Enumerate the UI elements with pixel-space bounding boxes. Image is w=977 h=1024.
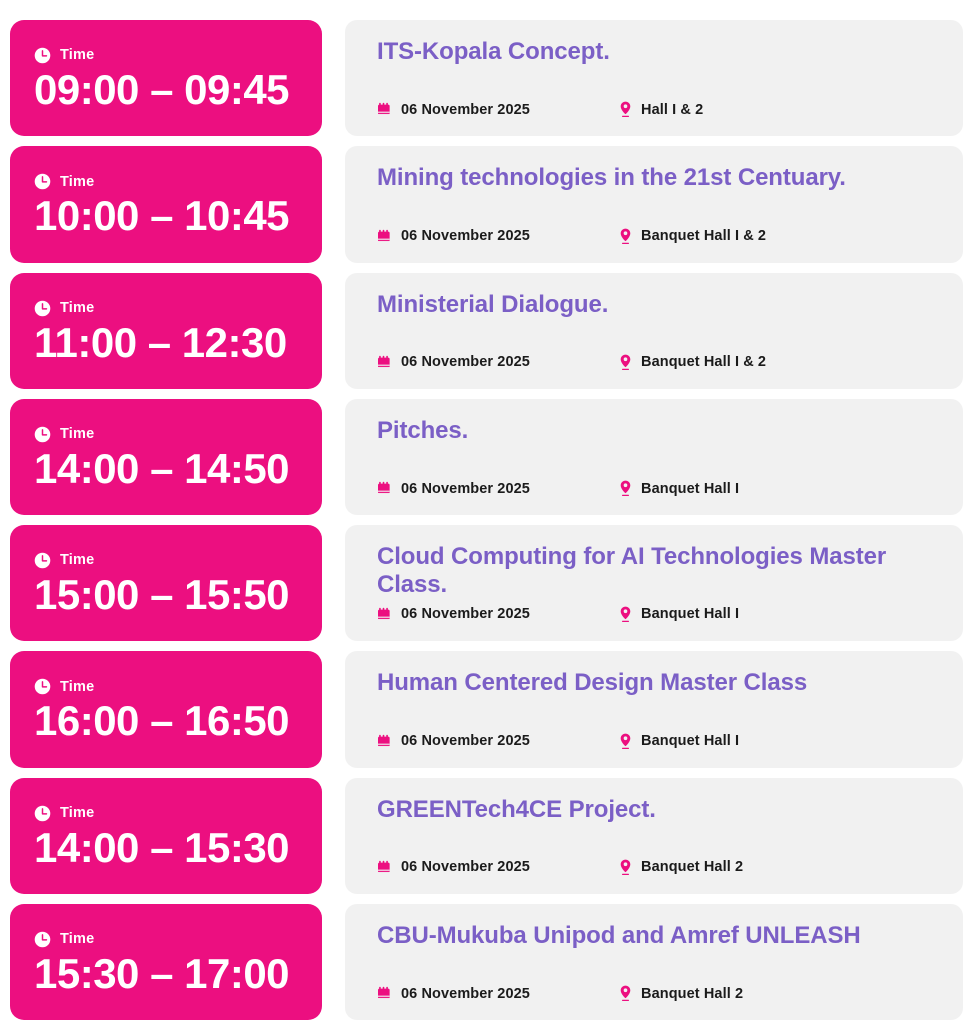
time-label: Time [60,427,94,442]
location-pin-icon [619,228,632,245]
session-card[interactable]: Pitches.06 November 2025Banquet Hall I [345,399,963,515]
session-meta: 06 November 2025Hall I & 2 [377,101,939,122]
session-meta: 06 November 2025Banquet Hall I [377,606,939,627]
session-venue: Banquet Hall 2 [619,859,743,876]
time-card[interactable]: Time15:00 – 15:50 [10,525,322,641]
calendar-icon [377,355,392,370]
session-date-text: 06 November 2025 [401,733,530,749]
calendar-icon [377,607,392,622]
session-date: 06 November 2025 [377,859,609,875]
time-card-header: Time [34,300,300,317]
schedule-row: Time14:00 – 15:30GREENTech4CE Project.06… [10,778,963,894]
time-label: Time [60,175,94,190]
clock-icon [34,426,51,443]
location-pin-icon [619,354,632,371]
schedule-row: Time10:00 – 10:45Mining technologies in … [10,146,963,262]
time-card[interactable]: Time11:00 – 12:30 [10,273,322,389]
time-card[interactable]: Time14:00 – 15:30 [10,778,322,894]
time-card[interactable]: Time16:00 – 16:50 [10,651,322,767]
time-card-header: Time [34,931,300,948]
session-venue: Banquet Hall 2 [619,985,743,1002]
clock-icon [34,552,51,569]
session-date: 06 November 2025 [377,733,609,749]
time-range: 16:00 – 16:50 [34,697,300,744]
time-range: 15:30 – 17:00 [34,950,300,997]
session-meta: 06 November 2025Banquet Hall 2 [377,985,939,1006]
time-card-header: Time [34,552,300,569]
clock-icon [34,173,51,190]
schedule-row: Time09:00 – 09:45ITS-Kopala Concept.06 N… [10,20,963,136]
location-pin-icon [619,985,632,1002]
session-venue-text: Banquet Hall I [641,606,739,622]
session-venue-text: Banquet Hall I & 2 [641,228,766,244]
time-range: 11:00 – 12:30 [34,319,300,366]
time-card[interactable]: Time14:00 – 14:50 [10,399,322,515]
time-card-header: Time [34,47,300,64]
time-range: 09:00 – 09:45 [34,66,300,113]
time-range: 15:00 – 15:50 [34,571,300,618]
session-card[interactable]: Ministerial Dialogue.06 November 2025Ban… [345,273,963,389]
session-meta: 06 November 2025Banquet Hall I [377,733,939,754]
clock-icon [34,678,51,695]
session-venue-text: Banquet Hall I [641,481,739,497]
location-pin-icon [619,606,632,623]
location-pin-icon [619,480,632,497]
session-card[interactable]: ITS-Kopala Concept.06 November 2025Hall … [345,20,963,136]
session-title: CBU-Mukuba Unipod and Amref UNLEASH [377,922,939,950]
calendar-icon [377,481,392,496]
location-pin-icon [619,733,632,750]
schedule-row: Time16:00 – 16:50Human Centered Design M… [10,651,963,767]
time-card[interactable]: Time09:00 – 09:45 [10,20,322,136]
calendar-icon [377,229,392,244]
time-label: Time [60,680,94,695]
schedule-row: Time14:00 – 14:50Pitches.06 November 202… [10,399,963,515]
time-range: 14:00 – 15:30 [34,824,300,871]
session-date-text: 06 November 2025 [401,606,530,622]
location-pin-icon [619,859,632,876]
schedule-list: Time09:00 – 09:45ITS-Kopala Concept.06 N… [0,0,977,1024]
time-range: 14:00 – 14:50 [34,445,300,492]
session-card[interactable]: CBU-Mukuba Unipod and Amref UNLEASH06 No… [345,904,963,1020]
session-date-text: 06 November 2025 [401,354,530,370]
session-title: Mining technologies in the 21st Centuary… [377,164,939,192]
session-venue-text: Banquet Hall I [641,733,739,749]
session-card[interactable]: GREENTech4CE Project.06 November 2025Ban… [345,778,963,894]
session-venue: Banquet Hall I [619,606,739,623]
session-title: ITS-Kopala Concept. [377,38,939,66]
session-date-text: 06 November 2025 [401,228,530,244]
session-venue-text: Banquet Hall 2 [641,859,743,875]
clock-icon [34,931,51,948]
calendar-icon [377,734,392,749]
session-card[interactable]: Cloud Computing for AI Technologies Mast… [345,525,963,641]
time-range: 10:00 – 10:45 [34,192,300,239]
session-date-text: 06 November 2025 [401,859,530,875]
clock-icon [34,47,51,64]
session-meta: 06 November 2025Banquet Hall 2 [377,859,939,880]
time-label: Time [60,553,94,568]
clock-icon [34,805,51,822]
session-venue: Banquet Hall I & 2 [619,354,766,371]
session-card[interactable]: Human Centered Design Master Class06 Nov… [345,651,963,767]
calendar-icon [377,102,392,117]
schedule-row: Time11:00 – 12:30Ministerial Dialogue.06… [10,273,963,389]
time-card[interactable]: Time15:30 – 17:00 [10,904,322,1020]
time-card-header: Time [34,805,300,822]
time-label: Time [60,806,94,821]
session-venue: Banquet Hall I & 2 [619,228,766,245]
time-label: Time [60,932,94,947]
session-date: 06 November 2025 [377,354,609,370]
calendar-icon [377,986,392,1001]
session-title: Cloud Computing for AI Technologies Mast… [377,543,939,600]
session-date-text: 06 November 2025 [401,102,530,118]
clock-icon [34,300,51,317]
schedule-row: Time15:30 – 17:00CBU-Mukuba Unipod and A… [10,904,963,1020]
time-label: Time [60,48,94,63]
session-venue-text: Banquet Hall I & 2 [641,354,766,370]
session-title: Pitches. [377,417,939,445]
session-date: 06 November 2025 [377,102,609,118]
session-meta: 06 November 2025Banquet Hall I & 2 [377,228,939,249]
time-card-header: Time [34,426,300,443]
session-date: 06 November 2025 [377,228,609,244]
session-venue: Hall I & 2 [619,101,703,118]
location-pin-icon [619,101,632,118]
session-venue-text: Banquet Hall 2 [641,986,743,1002]
time-card-header: Time [34,173,300,190]
session-date-text: 06 November 2025 [401,481,530,497]
schedule-row: Time15:00 – 15:50Cloud Computing for AI … [10,525,963,641]
session-date-text: 06 November 2025 [401,986,530,1002]
session-date: 06 November 2025 [377,481,609,497]
session-date: 06 November 2025 [377,986,609,1002]
time-label: Time [60,301,94,316]
session-date: 06 November 2025 [377,606,609,622]
session-meta: 06 November 2025Banquet Hall I & 2 [377,354,939,375]
session-venue: Banquet Hall I [619,733,739,750]
session-title: Human Centered Design Master Class [377,669,939,697]
session-venue-text: Hall I & 2 [641,102,703,118]
time-card-header: Time [34,678,300,695]
time-card[interactable]: Time10:00 – 10:45 [10,146,322,262]
session-title: GREENTech4CE Project. [377,796,939,824]
session-card[interactable]: Mining technologies in the 21st Centuary… [345,146,963,262]
session-title: Ministerial Dialogue. [377,291,939,319]
session-meta: 06 November 2025Banquet Hall I [377,480,939,501]
calendar-icon [377,860,392,875]
session-venue: Banquet Hall I [619,480,739,497]
